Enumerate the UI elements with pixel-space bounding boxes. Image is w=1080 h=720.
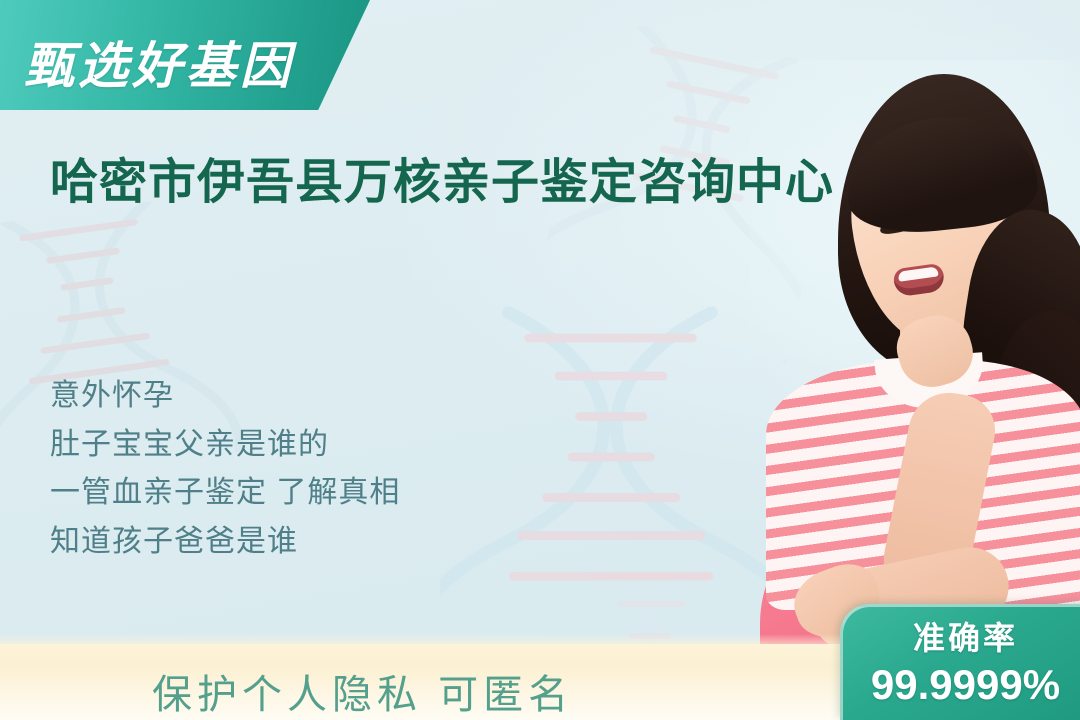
brand-logo-text: 甄选好基因 bbox=[24, 26, 294, 98]
accuracy-badge-value: 99.9999% bbox=[843, 661, 1080, 709]
promo-poster: 甄选好基因 哈密市伊吾县万核亲子鉴定咨询中心 意外怀孕 肚子宝宝父亲是谁的 一管… bbox=[0, 0, 1080, 720]
copy-line: 一管血亲子鉴定 了解真相 bbox=[50, 469, 400, 518]
accuracy-badge-label: 准确率 bbox=[843, 613, 1080, 659]
privacy-tagline: 保护个人隐私 可匿名 bbox=[152, 662, 573, 720]
accuracy-badge: 准确率 99.9999% bbox=[840, 604, 1080, 720]
copy-line: 意外怀孕 bbox=[50, 372, 400, 421]
page-title: 哈密市伊吾县万核亲子鉴定咨询中心 bbox=[50, 152, 860, 213]
copy-line: 知道孩子爸爸是谁 bbox=[50, 518, 400, 567]
dna-helix-icon bbox=[440, 300, 780, 680]
marketing-copy: 意外怀孕 肚子宝宝父亲是谁的 一管血亲子鉴定 了解真相 知道孩子爸爸是谁 bbox=[50, 372, 400, 566]
copy-line: 肚子宝宝父亲是谁的 bbox=[50, 421, 400, 470]
